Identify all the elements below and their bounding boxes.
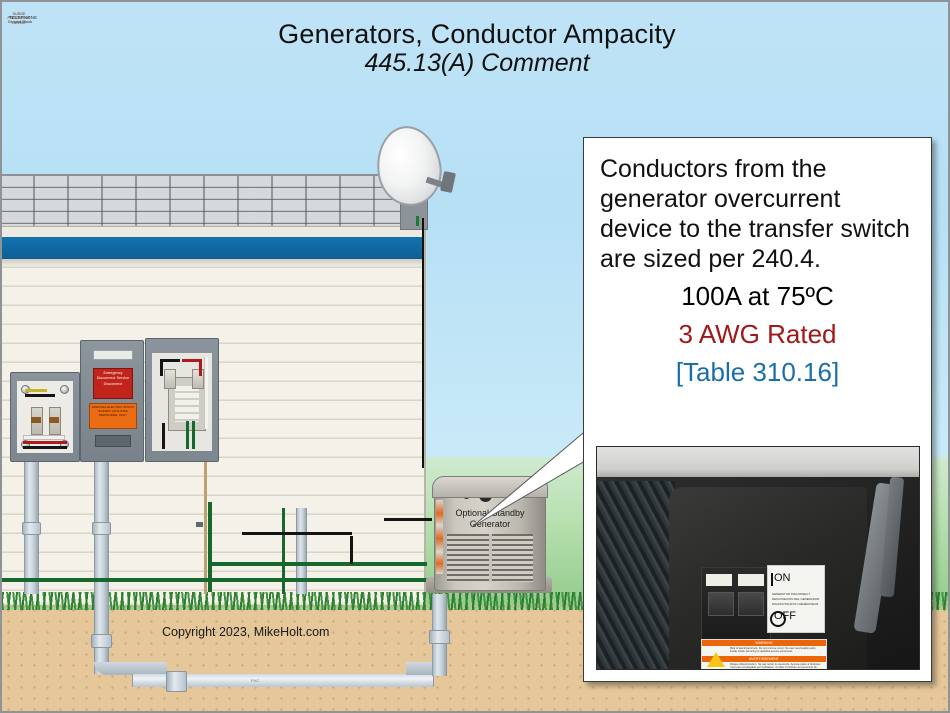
terminal-block (49, 407, 61, 435)
slide-canvas: Generators, Conductor Ampacity 445.13(A)… (0, 0, 950, 713)
lug-right (192, 369, 204, 389)
wire-yellow (25, 389, 47, 392)
callout-ampacity: 100A at 75ºC (584, 280, 931, 312)
conduit-coupling (22, 522, 41, 535)
emergency-disconnect-label: Emergency Disconnect Service Disconnect (93, 368, 133, 399)
callout-pointer (442, 417, 602, 532)
on-bar-icon (771, 573, 773, 586)
copyright-text: Copyright 2023, MikeHolt.com (162, 625, 329, 639)
photo-generator-housing-edge (597, 447, 919, 481)
wire-ground-green (192, 421, 195, 449)
conduit-coupling (92, 522, 111, 535)
terminal-block (31, 407, 43, 435)
wire-black (160, 362, 163, 376)
wire-black (162, 423, 165, 449)
service-disconnect-enclosure: Emergency Disconnect Service Disconnect … (80, 340, 144, 462)
junction-box-interior (17, 381, 73, 453)
coax-down-cable (422, 218, 424, 468)
photo-disconnect-fr: DISJONCTEUR DU GÉNÉRATEUR (772, 602, 822, 606)
photo-wiring-harness (597, 481, 675, 669)
photo-breaker-toggle-left (708, 592, 734, 616)
disconnect-vent (95, 435, 131, 447)
page-title: Generators, Conductor Ampacity (2, 20, 950, 49)
wire-black (25, 394, 55, 397)
photo-breaker-rating-left (706, 574, 732, 586)
coax-drop (350, 536, 353, 564)
wall-shadow (2, 259, 424, 267)
ground-clamp (196, 522, 203, 527)
grounding-electrode-conductor (204, 454, 207, 594)
transfer-switch-enclosure (145, 338, 219, 462)
fascia-band (0, 237, 424, 259)
breaker-core (175, 386, 199, 422)
satellite-ground-wire (416, 216, 419, 226)
callout-reference: [Table 310.16] (584, 356, 931, 388)
ground-run-lower (2, 578, 432, 582)
coax-run (242, 532, 352, 535)
photo-onoff-label: ON GENERATOR DISCONNECT DESCONEXIÓN DEL … (767, 565, 825, 633)
wire-red (199, 362, 202, 376)
wire-ground-green (186, 421, 189, 449)
photo-warning-body-fr: Risque d'électrocution. Ne pas retirer l… (730, 663, 824, 670)
transfer-switch-interior (152, 353, 212, 451)
warning-label: WARNING ELECTRIC SHOCK HAZARD QUALIFIED … (89, 403, 137, 429)
wire-white (204, 357, 208, 429)
photo-breaker (701, 567, 771, 645)
photo-disconnect-en: GENERATOR DISCONNECT (772, 592, 822, 596)
screw-icon (60, 385, 69, 394)
electrical-hazard-icon (707, 652, 725, 667)
nameplate-label (93, 350, 133, 360)
wire-black (160, 359, 180, 362)
wire-black (23, 446, 67, 449)
wire-white (23, 435, 65, 440)
photo-disconnect-es: DESCONEXIÓN DEL GENERADOR (772, 597, 822, 601)
terminal-band (49, 417, 59, 423)
callout-box: Conductors from the generator overcurren… (583, 137, 932, 682)
junction-box-enclosure (10, 372, 80, 462)
ground-run-horizontal (212, 562, 427, 566)
roof-texture (0, 176, 424, 228)
title-block: Generators, Conductor Ampacity 445.13(A)… (2, 20, 950, 77)
callout-paragraph: Conductors from the generator overcurren… (584, 138, 931, 274)
terminal-band (31, 417, 41, 423)
lug-left (164, 369, 176, 389)
callout-awg: 3 AWG Rated (584, 318, 931, 350)
photo-breaker-rating-right (738, 574, 764, 586)
photo-on-text: ON (774, 572, 791, 584)
photo-breaker-toggle-right (738, 592, 764, 616)
generator-disconnect-photo: ON GENERATOR DISCONNECT DESCONEXIÓN DEL … (596, 446, 920, 670)
generator-louver-divider (489, 534, 492, 582)
conduit-coupling (429, 630, 450, 644)
conduit-marking: PVC (251, 678, 259, 683)
photo-warning-placard: WARNING Risk of electrical shock. Do not… (701, 639, 827, 670)
coax-to-generator (384, 518, 432, 521)
conduit-coupling (91, 634, 112, 648)
conduit-coupling (166, 671, 187, 692)
photo-warning-header-en: WARNING (702, 640, 826, 646)
roof-shingles (0, 174, 424, 228)
wire-red (23, 441, 67, 444)
photo-warning-body-en: Risk of electrical shock. Do not remove … (730, 647, 824, 654)
page-subtitle: 445.13(A) Comment (2, 49, 950, 77)
photo-off-text: OFF (774, 610, 796, 622)
